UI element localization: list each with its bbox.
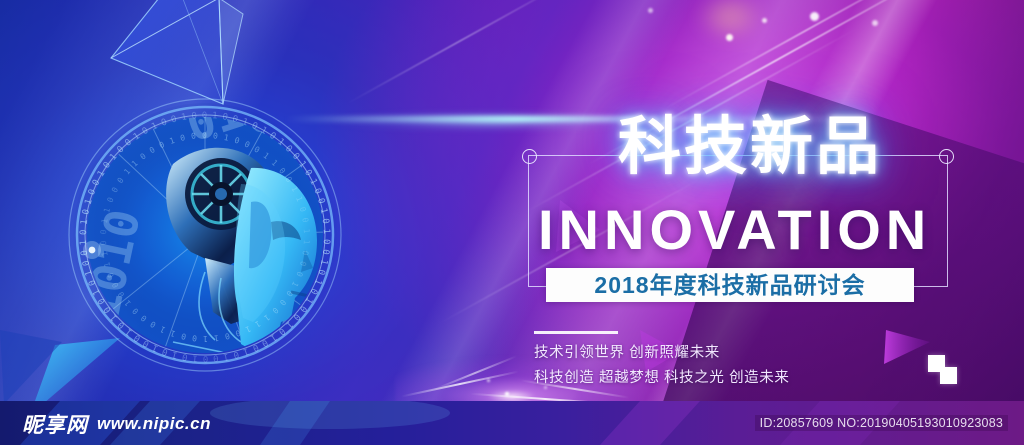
image-id-text: ID:20857609 NO:20190405193010923083	[755, 415, 1008, 431]
subtitle-line-1: 技术引领世界 创新照耀未来	[534, 341, 789, 366]
content-layer: 科技新品 INNOVATION 2018年度科技新品研讨会 技术引领世界 创新照…	[0, 0, 1024, 445]
subtitle-divider	[534, 331, 618, 334]
frame-dot-right-icon	[939, 149, 954, 164]
event-banner-label: 2018年度科技新品研讨会	[546, 268, 914, 302]
event-banner-text: 2018年度科技新品研讨会	[546, 268, 914, 302]
frame-dot-left-icon	[522, 149, 537, 164]
headline-english: INNOVATION	[538, 202, 931, 258]
headline-chinese: 科技新品	[618, 116, 882, 179]
footer-watermark-bar: 昵享网 www.nipic.cn ID:20857609 NO:20190405…	[0, 401, 1024, 445]
site-logo[interactable]: 昵享网 www.nipic.cn	[22, 409, 211, 439]
logo-url-text: www.nipic.cn	[97, 414, 211, 434]
promo-banner: 01 8 1010 1010	[0, 0, 1024, 445]
logo-chinese-text: 昵享网	[22, 409, 88, 439]
subtitle-line-2: 科技创造 超越梦想 科技之光 创造未来	[534, 366, 789, 391]
white-square-motif	[940, 367, 957, 384]
subtitle-block: 技术引领世界 创新照耀未来 科技创造 超越梦想 科技之光 创造未来	[534, 341, 789, 391]
